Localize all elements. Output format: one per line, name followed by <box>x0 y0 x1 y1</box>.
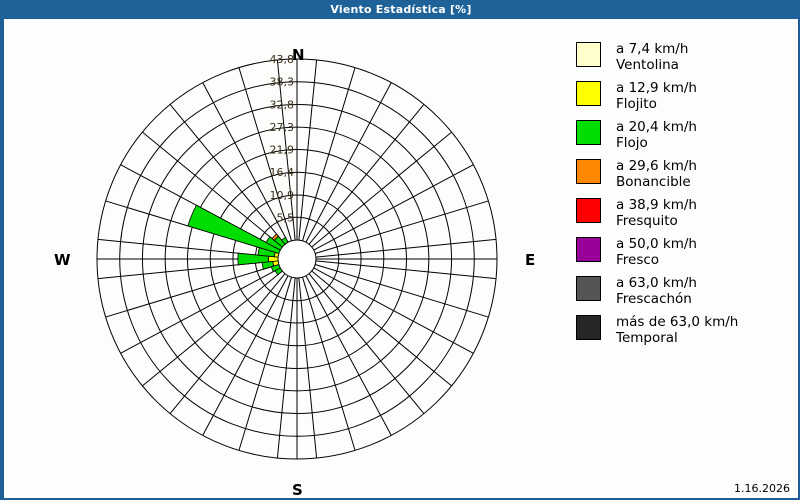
legend-speed: a 20,4 km/h <box>616 119 697 135</box>
compass-label-south: S <box>292 481 303 498</box>
legend-name: Temporal <box>616 330 738 346</box>
rtick-label: 21,9 <box>270 144 295 157</box>
legend-label: a 50,0 km/hFresco <box>616 236 697 268</box>
legend-name: Flojito <box>616 96 697 112</box>
legend-label: a 63,0 km/hFrescachón <box>616 275 697 307</box>
legend-item[interactable]: más de 63,0 km/hTemporal <box>576 314 796 346</box>
chart-canvas: 5,510,916,421,927,332,838,343,8 N E S W … <box>4 19 798 498</box>
legend-item[interactable]: a 63,0 km/hFrescachón <box>576 275 796 307</box>
compass-label-north: N <box>292 46 305 64</box>
legend-item[interactable]: a 7,4 km/hVentolina <box>576 41 796 73</box>
chart-window: Viento Estadística [%] 5,510,916,421,927… <box>0 0 800 500</box>
legend-speed: a 12,9 km/h <box>616 80 697 96</box>
legend-swatch <box>576 198 601 223</box>
date-stamp: 1.16.2026 <box>734 482 790 495</box>
legend-swatch <box>576 42 601 67</box>
legend-speed: más de 63,0 km/h <box>616 314 738 330</box>
legend-name: Flojo <box>616 135 697 151</box>
rtick-label: 38,3 <box>270 76 295 89</box>
legend-label: a 29,6 km/hBonancible <box>616 158 697 190</box>
legend-label: a 12,9 km/hFlojito <box>616 80 697 112</box>
petal-group <box>188 205 288 274</box>
legend-swatch <box>576 276 601 301</box>
legend-label: a 7,4 km/hVentolina <box>616 41 688 73</box>
legend-item[interactable]: a 38,9 km/hFresquito <box>576 197 796 229</box>
legend-speed: a 38,9 km/h <box>616 197 697 213</box>
legend-speed: a 29,6 km/h <box>616 158 697 174</box>
legend-item[interactable]: a 20,4 km/hFlojo <box>576 119 796 151</box>
compass-label-east: E <box>525 251 535 269</box>
legend-name: Fresco <box>616 252 697 268</box>
polar-grid <box>97 59 497 459</box>
window-title: Viento Estadística [%] <box>1 1 800 18</box>
legend-name: Bonancible <box>616 174 697 190</box>
legend-name: Ventolina <box>616 57 688 73</box>
legend-item[interactable]: a 12,9 km/hFlojito <box>576 80 796 112</box>
legend: a 7,4 km/hVentolinaa 12,9 km/hFlojitoa 2… <box>576 41 796 353</box>
legend-name: Frescachón <box>616 291 697 307</box>
rtick-label: 32,8 <box>270 99 295 112</box>
legend-name: Fresquito <box>616 213 697 229</box>
legend-label: más de 63,0 km/hTemporal <box>616 314 738 346</box>
legend-swatch <box>576 81 601 106</box>
legend-item[interactable]: a 29,6 km/hBonancible <box>576 158 796 190</box>
rtick-label: 5,5 <box>277 211 295 224</box>
rtick-label: 16,4 <box>270 166 295 179</box>
legend-swatch <box>576 159 601 184</box>
rtick-label: 43,8 <box>270 53 295 66</box>
legend-speed: a 50,0 km/h <box>616 236 697 252</box>
legend-speed: a 63,0 km/h <box>616 275 697 291</box>
legend-label: a 20,4 km/hFlojo <box>616 119 697 151</box>
rtick-labels: 5,510,916,421,927,332,838,343,8 <box>270 53 295 224</box>
rtick-label: 10,9 <box>270 189 295 202</box>
compass-label-west: W <box>54 251 71 269</box>
legend-swatch <box>576 237 601 262</box>
legend-swatch <box>576 315 601 340</box>
legend-item[interactable]: a 50,0 km/hFresco <box>576 236 796 268</box>
rtick-label: 27,3 <box>270 121 295 134</box>
legend-swatch <box>576 120 601 145</box>
legend-label: a 38,9 km/hFresquito <box>616 197 697 229</box>
legend-speed: a 7,4 km/h <box>616 41 688 57</box>
